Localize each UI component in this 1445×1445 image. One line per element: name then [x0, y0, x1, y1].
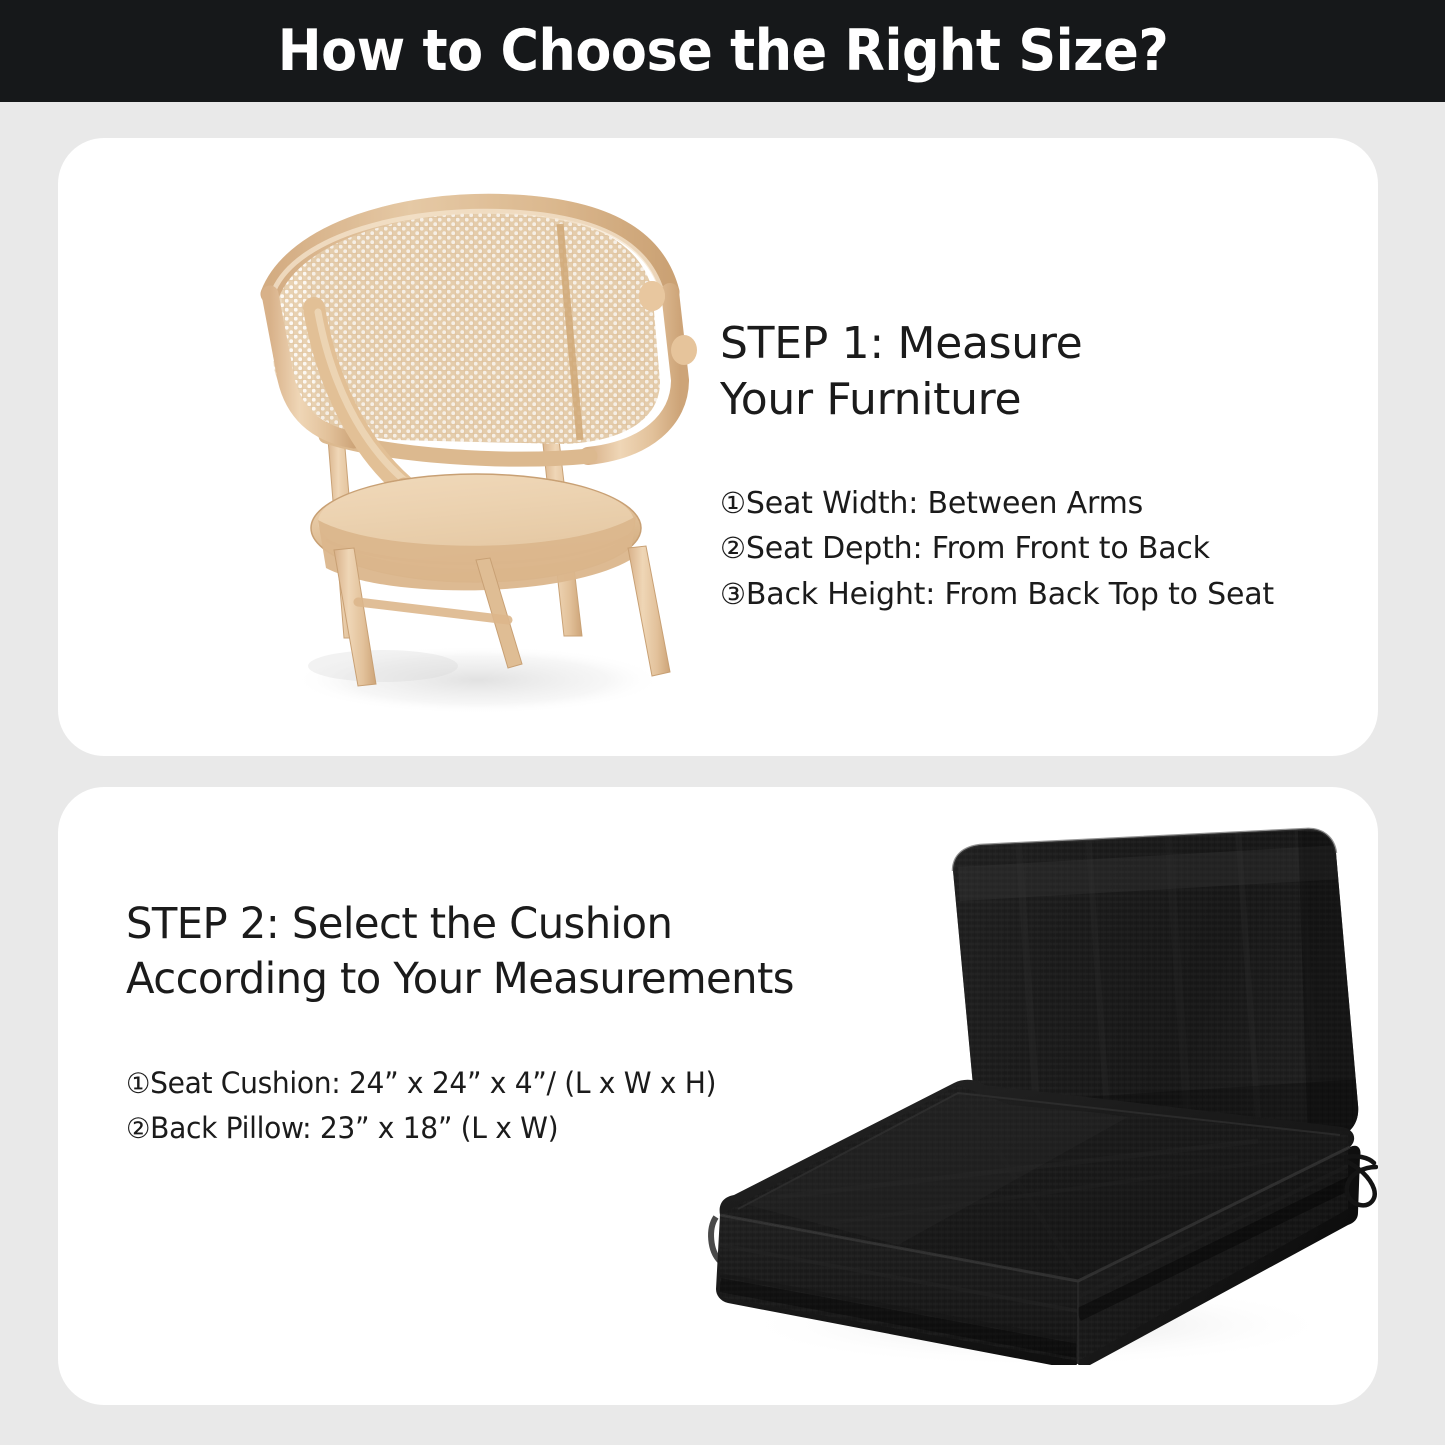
chair-illustration — [208, 168, 728, 728]
list-item-label: Seat Width: Between Arms — [746, 486, 1143, 521]
page-title: How to Choose the Right Size? — [277, 23, 1168, 80]
step-1-text-block: STEP 1: Measure Your Furniture ①Seat Wid… — [720, 316, 1340, 617]
step-1-heading: STEP 1: Measure Your Furniture — [720, 316, 1340, 429]
step-1-card: STEP 1: Measure Your Furniture ①Seat Wid… — [58, 138, 1378, 756]
list-item: ②Seat Depth: From Front to Back — [720, 526, 1340, 572]
list-item-label: Back Height: From Back Top to Seat — [746, 577, 1274, 612]
tie-cord-icon — [1346, 1156, 1376, 1205]
number-marker-icon: ② — [720, 531, 746, 565]
number-marker-icon: ① — [720, 486, 746, 520]
number-marker-icon: ② — [126, 1112, 150, 1145]
header-bar: How to Choose the Right Size? — [0, 0, 1445, 102]
step-2-card: STEP 2: Select the Cushion According to … — [58, 787, 1378, 1405]
list-item-label: Seat Cushion: 24” x 24” x 4”/ (L x W x H… — [150, 1066, 716, 1100]
list-item: ①Seat Width: Between Arms — [720, 481, 1340, 527]
number-marker-icon: ③ — [720, 577, 746, 611]
list-item-label: Back Pillow: 23” x 18” (L x W) — [150, 1111, 558, 1145]
list-item-label: Seat Depth: From Front to Back — [746, 531, 1210, 566]
number-marker-icon: ① — [126, 1067, 150, 1100]
cushion-illustration — [658, 805, 1378, 1365]
step-1-list: ①Seat Width: Between Arms ②Seat Depth: F… — [720, 481, 1340, 618]
list-item: ③Back Height: From Back Top to Seat — [720, 572, 1340, 618]
